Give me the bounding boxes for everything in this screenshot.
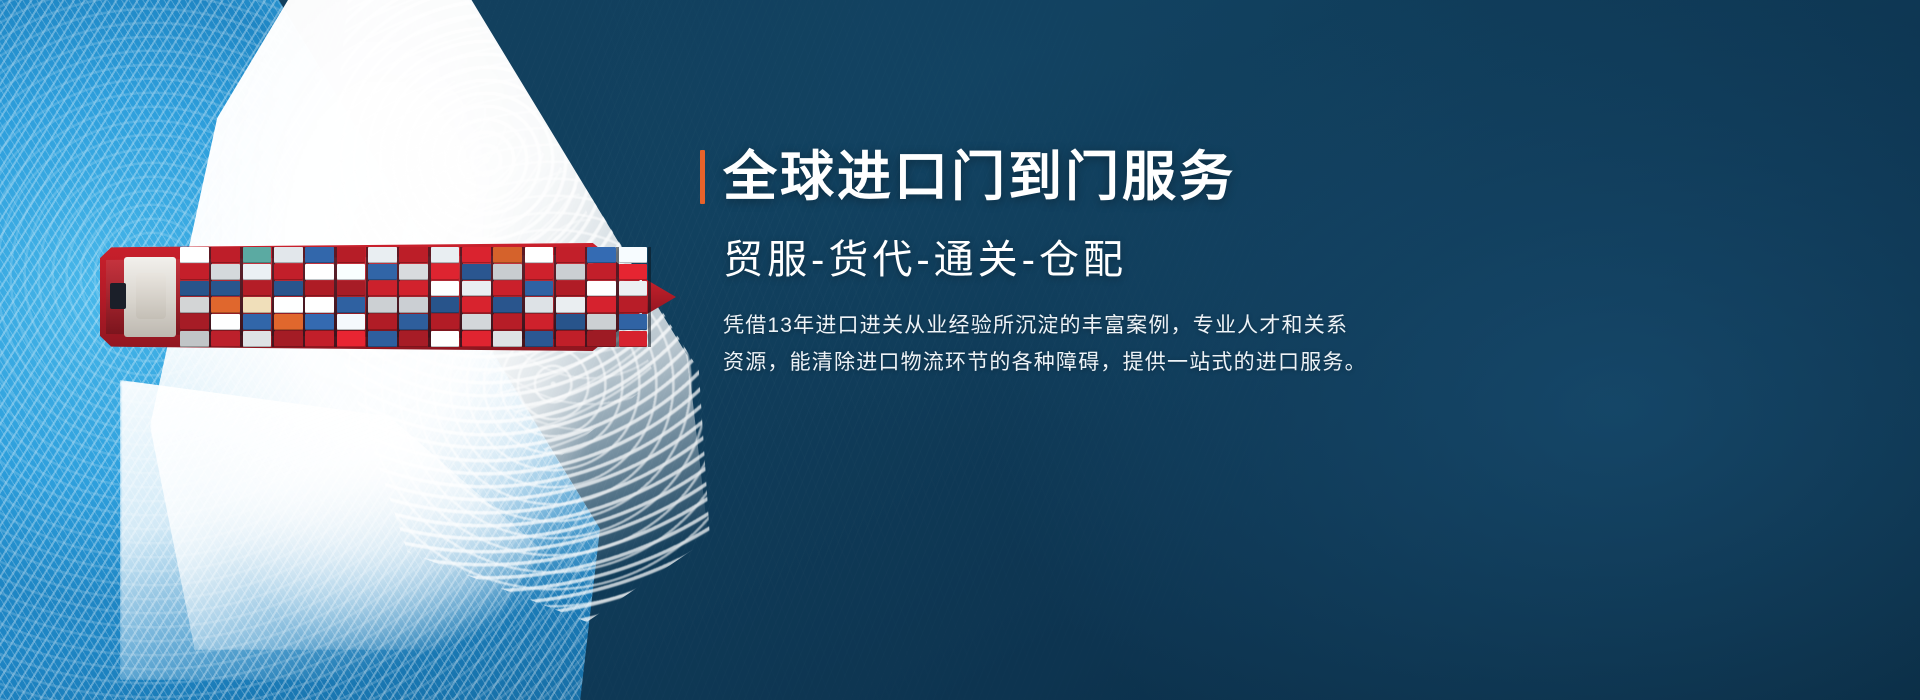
shipping-container [368, 281, 397, 297]
container-bay [399, 247, 428, 347]
shipping-container [399, 314, 428, 330]
ship-bridge [136, 273, 166, 319]
shipping-container [211, 297, 240, 313]
shipping-container [274, 264, 303, 280]
shipping-container [587, 314, 616, 330]
shipping-container [587, 297, 616, 313]
shipping-container [493, 247, 522, 263]
container-bay [305, 247, 334, 347]
shipping-container [619, 281, 648, 297]
shipping-container [305, 281, 334, 297]
shipping-container [619, 297, 648, 313]
shipping-container [462, 281, 491, 297]
shipping-container [525, 264, 554, 280]
shipping-container [180, 281, 209, 297]
shipping-container [462, 331, 491, 347]
shipping-container [337, 297, 366, 313]
shipping-container [619, 247, 648, 263]
page-title: 全球进口门到门服务 [723, 150, 1236, 204]
container-bay [462, 247, 491, 347]
shipping-container [493, 331, 522, 347]
shipping-container [587, 281, 616, 297]
shipping-container [493, 314, 522, 330]
shipping-container [368, 247, 397, 263]
shipping-container [180, 314, 209, 330]
shipping-container [431, 331, 460, 347]
shipping-container [243, 331, 272, 347]
container-bay [211, 247, 240, 347]
shipping-container [368, 264, 397, 280]
shipping-container [274, 314, 303, 330]
shipping-container [525, 314, 554, 330]
shipping-container [556, 264, 585, 280]
shipping-container [180, 297, 209, 313]
shipping-container [243, 281, 272, 297]
banner-copy: 全球进口门到门服务 贸服-货代-通关-仓配 凭借13年进口进关从业经验所沉淀的丰… [700, 150, 1460, 382]
description-line-2: 资源，能清除进口物流环节的各种障碍，提供一站式的进口服务。 [723, 345, 1460, 382]
shipping-container [243, 297, 272, 313]
shipping-container [399, 247, 428, 263]
shipping-container [274, 297, 303, 313]
shipping-container [556, 331, 585, 347]
shipping-container [399, 264, 428, 280]
shipping-container [619, 264, 648, 280]
shipping-container [525, 247, 554, 263]
shipping-container [337, 264, 366, 280]
shipping-container [399, 281, 428, 297]
shipping-container [211, 247, 240, 263]
shipping-container [337, 281, 366, 297]
banner-description: 凭借13年进口进关从业经验所沉淀的丰富案例，专业人才和关系 资源，能清除进口物流… [723, 308, 1460, 382]
container-bay [274, 247, 303, 347]
shipping-container [180, 247, 209, 263]
shipping-container [305, 264, 334, 280]
container-bay [619, 247, 648, 347]
shipping-container [368, 314, 397, 330]
shipping-container [180, 264, 209, 280]
shipping-container [431, 297, 460, 313]
headline-row: 全球进口门到门服务 [700, 150, 1460, 204]
hero-banner: 全球进口门到门服务 贸服-货代-通关-仓配 凭借13年进口进关从业经验所沉淀的丰… [0, 0, 1920, 700]
shipping-container [305, 314, 334, 330]
shipping-container [337, 331, 366, 347]
shipping-container [243, 247, 272, 263]
container-bay [556, 247, 585, 347]
shipping-container [587, 264, 616, 280]
bay-divider [648, 247, 651, 347]
shipping-container [493, 264, 522, 280]
shipping-container [462, 314, 491, 330]
shipping-container [399, 297, 428, 313]
shipping-container [587, 331, 616, 347]
shipping-container [619, 331, 648, 347]
shipping-container [431, 264, 460, 280]
shipping-container [180, 331, 209, 347]
shipping-container [368, 297, 397, 313]
container-bay [180, 247, 209, 347]
shipping-container [556, 297, 585, 313]
shipping-container [337, 247, 366, 263]
accent-bar-icon [700, 150, 705, 204]
shipping-container [525, 281, 554, 297]
shipping-container [399, 331, 428, 347]
ship-funnel [110, 283, 126, 309]
shipping-container [305, 247, 334, 263]
container-bay [431, 247, 460, 347]
shipping-container [587, 247, 616, 263]
shipping-container [525, 331, 554, 347]
shipping-container [211, 314, 240, 330]
description-line-1: 凭借13年进口进关从业经验所沉淀的丰富案例，专业人才和关系 [723, 308, 1460, 345]
shipping-container [211, 331, 240, 347]
container-bay [243, 247, 272, 347]
shipping-container [493, 297, 522, 313]
shipping-container [274, 331, 303, 347]
shipping-container [556, 247, 585, 263]
shipping-container [274, 247, 303, 263]
banner-subtitle: 贸服-货代-通关-仓配 [723, 238, 1460, 282]
shipping-container [243, 314, 272, 330]
container-ship-image [100, 243, 660, 351]
shipping-container [274, 281, 303, 297]
container-bay [337, 247, 366, 347]
shipping-container [431, 281, 460, 297]
container-bay [525, 247, 554, 347]
shipping-container [305, 297, 334, 313]
shipping-container [211, 264, 240, 280]
cargo-container-stacks [180, 247, 650, 347]
shipping-container [493, 281, 522, 297]
shipping-container [462, 264, 491, 280]
container-bay [368, 247, 397, 347]
shipping-container [556, 281, 585, 297]
container-bay [493, 247, 522, 347]
shipping-container [619, 314, 648, 330]
shipping-container [305, 331, 334, 347]
shipping-container [211, 281, 240, 297]
shipping-container [368, 331, 397, 347]
shipping-container [556, 314, 585, 330]
shipping-container [243, 264, 272, 280]
shipping-container [462, 297, 491, 313]
shipping-container [462, 247, 491, 263]
shipping-container [431, 247, 460, 263]
container-bay [587, 247, 616, 347]
shipping-container [431, 314, 460, 330]
shipping-container [525, 297, 554, 313]
shipping-container [337, 314, 366, 330]
